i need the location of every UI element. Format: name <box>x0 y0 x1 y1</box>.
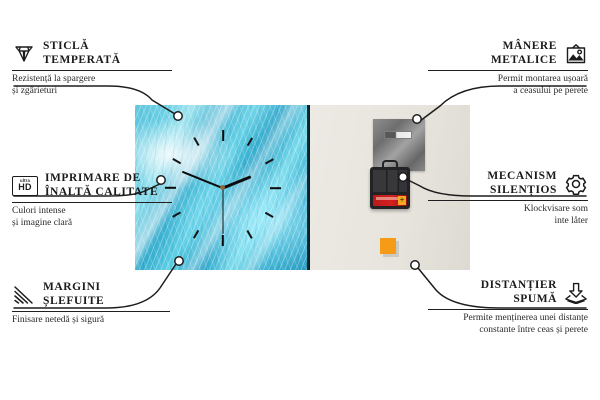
feature-divider <box>12 202 172 203</box>
feature-sub-line1: Rezistență la spargere <box>12 74 172 86</box>
feature-polished-edges: MARGINI ȘLEFUITE Finisare netedă și sigu… <box>12 281 170 327</box>
feature-metal-handles: MÂNERE METALICE Permit montarea ușoară a… <box>428 40 588 97</box>
feature-divider <box>428 309 588 310</box>
feature-tempered-glass: STICLĂ TEMPERATĂ Rezistență la spargere … <box>12 40 172 97</box>
feature-sub-line1: Permit montarea ușoară <box>428 74 588 86</box>
feature-sub-line2: constante între ceas și perete <box>428 325 588 337</box>
feature-sub-line2: inte låter <box>428 216 588 228</box>
feature-divider <box>428 70 588 71</box>
product-photo: + <box>135 105 470 270</box>
diamond-icon <box>12 43 36 65</box>
feature-divider <box>12 70 172 71</box>
feature-sub-line1: Permite menținerea unei distanțe <box>428 313 588 325</box>
feature-title-line2: SPUMĂ <box>481 293 557 307</box>
feature-title-line2: ȘLEFUITE <box>43 295 104 309</box>
feature-title-line2: SILENȚIOS <box>487 184 557 198</box>
beveled-edge-icon <box>12 284 36 306</box>
feature-title-line1: MÂNERE <box>491 40 557 54</box>
feature-title-line2: TEMPERATĂ <box>43 54 121 68</box>
clock-tick <box>223 187 281 189</box>
feature-title-line1: STICLĂ <box>43 40 121 54</box>
feature-sub-line2: și imagine clară <box>12 218 172 230</box>
down-arrow-stack-icon <box>564 282 588 304</box>
mechanism-hook <box>382 160 398 169</box>
ultra-hd-icon: ultra HD <box>12 176 38 196</box>
feature-title-line2: METALICE <box>491 54 557 68</box>
picture-hanger-icon <box>564 43 588 65</box>
battery-compartment: + <box>373 195 407 206</box>
feature-sub-line2: a ceasului pe perete <box>428 86 588 98</box>
feature-sub-line1: Culori intense <box>12 206 172 218</box>
feature-high-quality-print: ultra HD IMPRIMARE DE ÎNALTĂ CALITATE Cu… <box>12 172 172 229</box>
feature-sub-line1: Finisare netedă și sigură <box>12 315 170 327</box>
feature-foam-spacer: DISTANȚIER SPUMĂ Permite menținerea unei… <box>428 279 588 336</box>
gear-icon <box>564 173 588 195</box>
feature-title-line1: MECANISM <box>487 170 557 184</box>
clock-center-pin <box>220 185 225 190</box>
feature-title-line1: IMPRIMARE DE <box>45 172 158 186</box>
metal-hanger-plate <box>373 119 425 171</box>
ultra-hd-big-text: HD <box>18 183 31 193</box>
feature-sub-line2: și zgârieturi <box>12 86 172 98</box>
feature-sub-line1: Klockvisare som <box>428 204 588 216</box>
clock-tick <box>165 187 223 189</box>
quartz-clock-mechanism: + <box>370 167 410 209</box>
orange-foam-spacer <box>380 238 396 254</box>
infographic-canvas: + <box>0 0 600 400</box>
feature-title-line1: DISTANȚIER <box>481 279 557 293</box>
feature-title-line1: MARGINI <box>43 281 104 295</box>
clock-second-hand <box>222 188 223 234</box>
hanger-slot <box>384 131 412 139</box>
clock-tick <box>222 130 224 188</box>
feature-silent-mechanism: MECANISM SILENȚIOS Klockvisare som inte … <box>428 170 588 227</box>
feature-title-line2: ÎNALTĂ CALITATE <box>45 186 158 200</box>
mechanism-body-detail <box>373 170 407 192</box>
battery-plus-terminal: + <box>398 196 406 205</box>
feature-divider <box>12 311 170 312</box>
feature-divider <box>428 200 588 201</box>
